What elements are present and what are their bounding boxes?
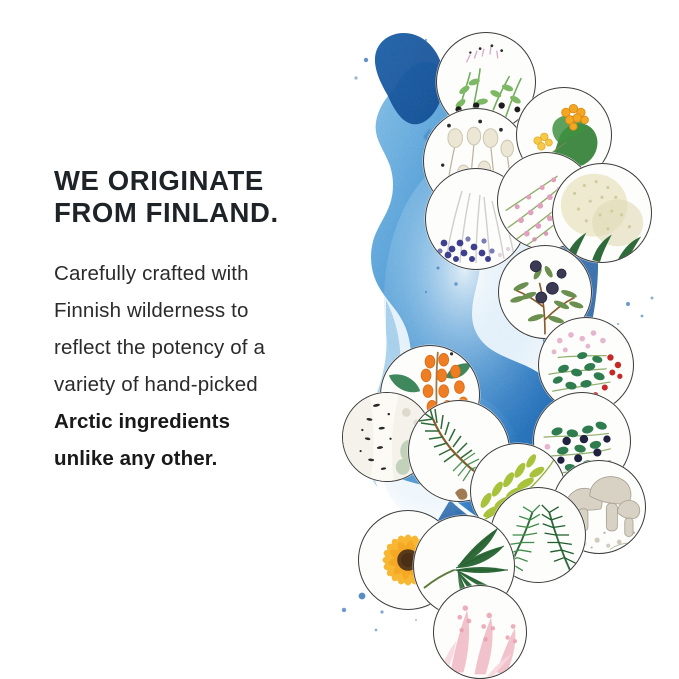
page-title: WE ORIGINATE FROM FINLAND.	[54, 165, 354, 229]
poster-canvas: WE ORIGINATE FROM FINLAND. Carefully cra…	[0, 0, 679, 679]
body-line-4: variety of hand-picked	[54, 366, 354, 403]
body-line-1: Carefully crafted with	[54, 255, 354, 292]
body-copy: Carefully crafted withFinnish wilderness…	[54, 255, 354, 477]
circle-fireweed-willowherb	[433, 585, 527, 679]
body-line-5: Arctic ingredients	[54, 403, 354, 440]
finland-map-illustration	[330, 0, 679, 679]
body-line-2: Finnish wilderness to	[54, 292, 354, 329]
body-line-3: reflect the potency of a	[54, 329, 354, 366]
body-line-6: unlike any other.	[54, 440, 354, 477]
text-block: WE ORIGINATE FROM FINLAND. Carefully cra…	[54, 165, 354, 477]
circle-meadowsweet	[552, 163, 652, 263]
